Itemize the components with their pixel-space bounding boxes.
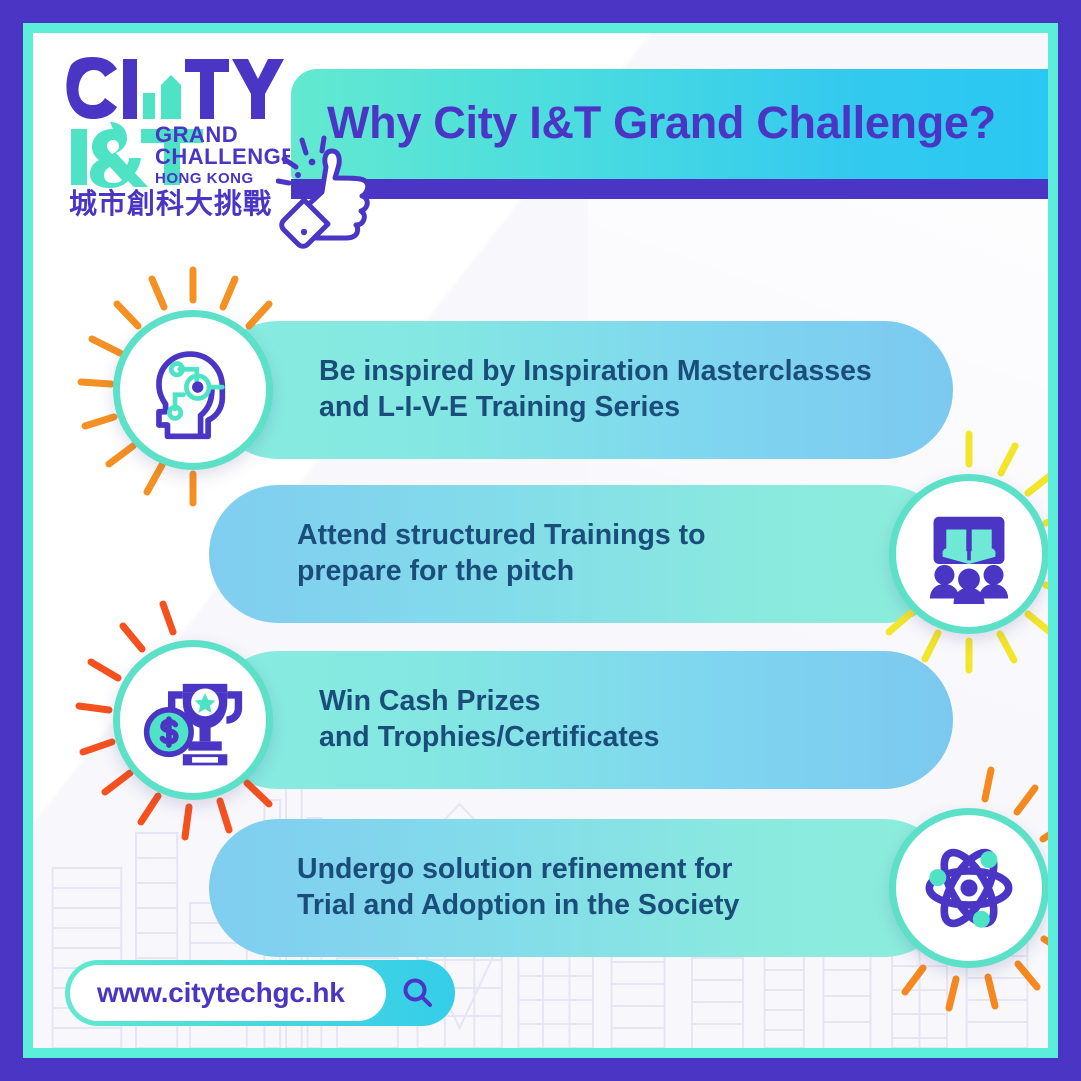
benefit-pill-2: Attend structured Trainings to prepare f… (209, 485, 953, 623)
benefit-text-3: Win Cash Prizes and Trophies/Certificate… (319, 684, 660, 756)
classroom-training-icon (919, 504, 1019, 604)
benefit-pill-4: Undergo solution refinement for Trial an… (209, 819, 953, 957)
benefit-badge-2 (889, 474, 1048, 634)
svg-text:HONG KONG: HONG KONG (155, 170, 254, 187)
benefit-row-4: Undergo solution refinement for Trial an… (209, 819, 953, 957)
website-search-bar[interactable]: www.citytechgc.hk (65, 960, 455, 1026)
svg-text:CHALLENGE: CHALLENGE (155, 144, 290, 169)
benefit-badge-1 (113, 310, 273, 470)
atom-icon (917, 836, 1021, 940)
benefit-pill-3: Win Cash Prizes and Trophies/Certificate… (209, 651, 953, 789)
search-input[interactable]: www.citytechgc.hk (70, 965, 386, 1021)
head-circuit-icon (141, 338, 245, 442)
benefit-row-1: Be inspired by Inspiration Masterclasses… (209, 321, 953, 459)
brand-logo: GRAND CHALLENGE HONG KONG 城市創科大挑戰 (65, 57, 290, 217)
thumbs-up-click-icon (276, 129, 381, 254)
benefit-row-3: Win Cash Prizes and Trophies/Certificate… (209, 651, 953, 789)
header-underline (291, 179, 1048, 199)
poster: GRAND CHALLENGE HONG KONG 城市創科大挑戰 Why Ci… (0, 0, 1081, 1081)
benefit-text-1: Be inspired by Inspiration Masterclasses… (319, 354, 872, 426)
benefit-pill-1: Be inspired by Inspiration Masterclasses… (209, 321, 953, 459)
website-url: www.citytechgc.hk (97, 977, 345, 1009)
benefit-badge-3 (113, 640, 273, 800)
search-button[interactable] (386, 965, 450, 1021)
benefit-badge-4 (889, 808, 1048, 968)
svg-text:城市創科大挑戰: 城市創科大挑戰 (69, 187, 272, 217)
poster-canvas: GRAND CHALLENGE HONG KONG 城市創科大挑戰 Why Ci… (33, 33, 1048, 1048)
poster-frame: GRAND CHALLENGE HONG KONG 城市創科大挑戰 Why Ci… (23, 23, 1058, 1058)
header-banner: Why City I&T Grand Challenge? (291, 69, 1048, 179)
benefit-text-2: Attend structured Trainings to prepare f… (297, 518, 706, 590)
search-icon (401, 976, 435, 1010)
trophy-prize-icon (142, 669, 244, 771)
page-title: Why City I&T Grand Challenge? (327, 97, 996, 149)
benefit-row-2: Attend structured Trainings to prepare f… (209, 485, 953, 623)
benefit-text-4: Undergo solution refinement for Trial an… (297, 852, 739, 924)
